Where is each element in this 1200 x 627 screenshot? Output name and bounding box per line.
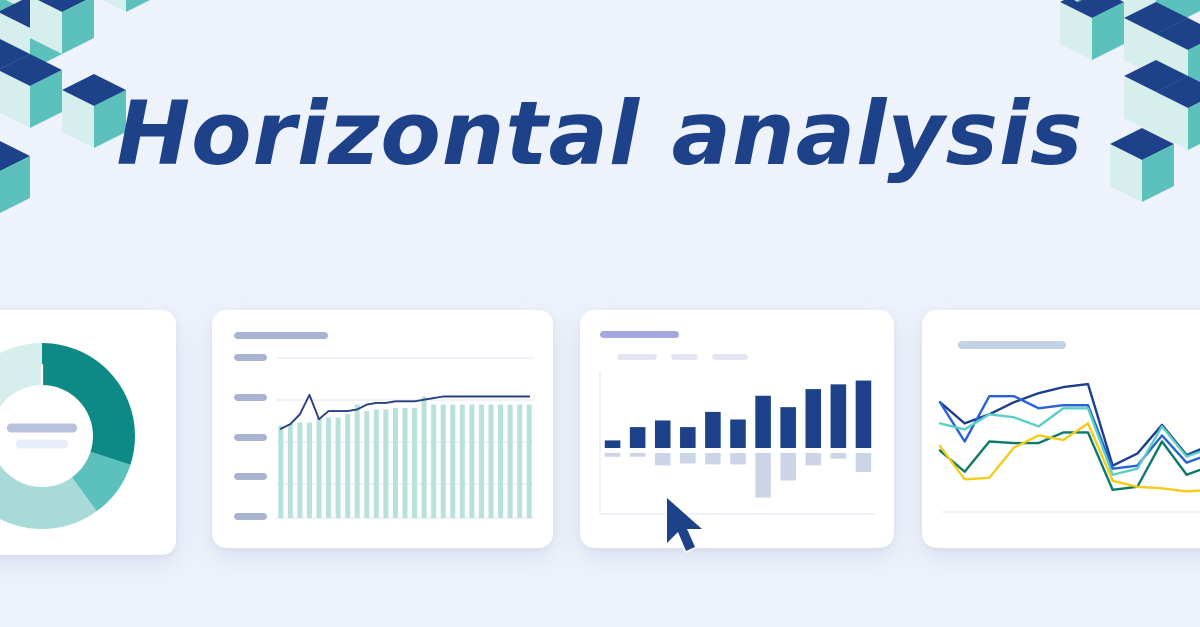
- column-bar: [489, 405, 494, 518]
- column-bar: [422, 397, 427, 519]
- y-axis-label-placeholder: [234, 394, 267, 401]
- legend-item-placeholder: [617, 354, 657, 360]
- column-line-svg: [276, 352, 534, 524]
- column-bar: [412, 408, 417, 518]
- column-bar: [469, 405, 474, 518]
- negative-bar: [730, 453, 746, 464]
- legend-item-placeholder: [671, 354, 698, 360]
- negative-bar: [780, 453, 796, 481]
- negative-bar: [755, 453, 771, 498]
- positive-bar: [856, 381, 872, 448]
- y-axis-label-placeholders: [234, 354, 268, 520]
- positive-bar: [630, 427, 646, 448]
- y-axis-label-placeholder: [234, 434, 267, 441]
- card-title-placeholder: [600, 331, 679, 338]
- column-bar: [317, 418, 322, 518]
- column-bar: [374, 409, 379, 518]
- y-axis-label-placeholder: [234, 354, 267, 361]
- negative-bar: [655, 453, 671, 465]
- donut-chart[interactable]: [0, 336, 142, 536]
- multi-line-chart-card[interactable]: [922, 310, 1200, 548]
- column-bar: [527, 405, 532, 518]
- column-bar: [498, 405, 503, 518]
- positive-bar: [805, 389, 821, 448]
- positive-bar: [655, 420, 671, 448]
- multi-line-svg: [940, 366, 1200, 518]
- line-series: [940, 423, 1200, 493]
- chart-cards-row: [0, 310, 1200, 555]
- multi-line-plot[interactable]: [940, 366, 1200, 518]
- donut-center-placeholders: [3, 424, 81, 449]
- column-bar: [288, 424, 293, 518]
- positive-bar: [780, 407, 796, 448]
- column-bar: [393, 408, 398, 518]
- column-bar: [431, 405, 436, 518]
- mouse-cursor: [664, 496, 710, 556]
- column-line-plot[interactable]: [276, 352, 534, 524]
- column-line-chart-card[interactable]: [212, 310, 553, 548]
- negative-bar: [605, 453, 621, 457]
- negative-bar: [856, 453, 872, 472]
- column-bar: [517, 405, 522, 518]
- column-bar: [345, 414, 350, 518]
- negative-bar: [630, 453, 646, 457]
- negative-bar: [680, 453, 696, 463]
- y-axis-label-placeholder: [234, 473, 267, 480]
- donut-center-bar-secondary: [16, 440, 68, 449]
- positive-bar: [755, 396, 771, 448]
- negative-bar: [805, 453, 821, 465]
- column-bar: [336, 418, 341, 518]
- card-title-placeholder: [958, 341, 1066, 349]
- positive-bar: [680, 427, 696, 448]
- line-series: [940, 432, 1200, 489]
- column-bar: [326, 418, 331, 518]
- positive-bar: [730, 420, 746, 449]
- column-bar: [441, 405, 446, 518]
- column-bar: [479, 405, 484, 518]
- page-root: Horizontal analysis: [0, 0, 1200, 627]
- card-title-placeholder: [234, 332, 328, 339]
- line-series-group: [940, 384, 1200, 493]
- column-bar: [364, 411, 369, 518]
- y-axis-label-placeholder: [234, 513, 267, 520]
- column-bar: [460, 405, 465, 518]
- positive-bar: [605, 440, 621, 448]
- diverging-bar-svg: [600, 372, 876, 520]
- negative-bar: [831, 453, 847, 459]
- positive-bar: [831, 384, 847, 448]
- page-title: Horizontal analysis: [0, 88, 1200, 180]
- positive-bars: [605, 381, 871, 448]
- legend-placeholders: [617, 354, 748, 360]
- column-bar: [307, 422, 312, 518]
- positive-bar: [705, 412, 721, 448]
- column-bar: [383, 409, 388, 518]
- column-bar: [297, 422, 302, 518]
- donut-chart-card[interactable]: [0, 310, 176, 555]
- column-bar: [355, 405, 360, 518]
- negative-bars: [605, 453, 871, 498]
- column-bar: [278, 426, 283, 518]
- donut-center-bar-primary: [7, 424, 77, 433]
- diverging-bar-plot[interactable]: [600, 372, 876, 520]
- column-bar: [450, 405, 455, 518]
- diverging-bar-chart-card[interactable]: [580, 310, 894, 548]
- legend-item-placeholder: [712, 354, 748, 360]
- negative-bar: [705, 453, 721, 464]
- column-bar: [508, 405, 513, 518]
- column-bar: [403, 408, 408, 518]
